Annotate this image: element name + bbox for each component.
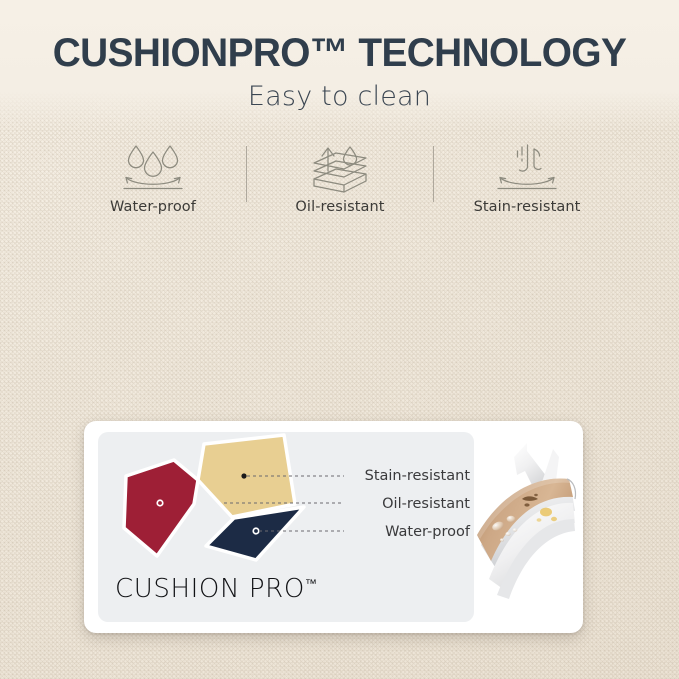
swatch-oil-resistant bbox=[124, 460, 198, 556]
callout-label-oil-resistant: Oil-resistant bbox=[382, 496, 470, 512]
brand-name: CUSHION PRO bbox=[115, 574, 305, 604]
product-photo bbox=[467, 427, 579, 627]
logo-panel: Stain-resistant Oil-resistant Water-proo… bbox=[98, 432, 474, 622]
feature-label: Water-proof bbox=[110, 199, 196, 215]
brand-trademark-symbol: ™ bbox=[305, 576, 317, 590]
feature-oil-resistant: Oil-resistant bbox=[247, 140, 433, 215]
callout-label-water-proof: Water-proof bbox=[385, 524, 471, 540]
feature-divider-1 bbox=[246, 146, 247, 202]
page-title: CUSHIONPRO™ TECHNOLOGY bbox=[10, 31, 669, 76]
feature-water-proof: Water-proof bbox=[60, 140, 246, 215]
feature-stain-resistant: Stain-resistant bbox=[434, 140, 620, 215]
water-droplets-repel-icon bbox=[115, 140, 191, 195]
brand-wordmark: CUSHION PRO™ bbox=[115, 574, 455, 604]
product-detail-card: Stain-resistant Oil-resistant Water-proo… bbox=[84, 421, 583, 633]
swatch-stain-resistant bbox=[198, 435, 295, 517]
callout-label-stain-resistant: Stain-resistant bbox=[365, 468, 471, 484]
header-band: CUSHIONPRO™ TECHNOLOGY Easy to clean bbox=[0, 0, 679, 130]
feature-label: Oil-resistant bbox=[295, 199, 384, 215]
splash-repel-surface-icon bbox=[489, 140, 565, 195]
feature-divider-2 bbox=[433, 146, 434, 202]
swatch-water-proof bbox=[206, 507, 304, 560]
infographic-canvas: CUSHIONPRO™ TECHNOLOGY Easy to clean Wat… bbox=[0, 0, 679, 679]
feature-label: Stain-resistant bbox=[474, 199, 581, 215]
feature-list: Water-proof Oil-resistant bbox=[60, 140, 620, 230]
cushion-pro-logo-diagram: Stain-resistant Oil-resistant Water-proo… bbox=[98, 432, 474, 582]
layered-sheets-arrow-icon bbox=[302, 140, 378, 195]
page-subtitle: Easy to clean bbox=[0, 81, 679, 112]
